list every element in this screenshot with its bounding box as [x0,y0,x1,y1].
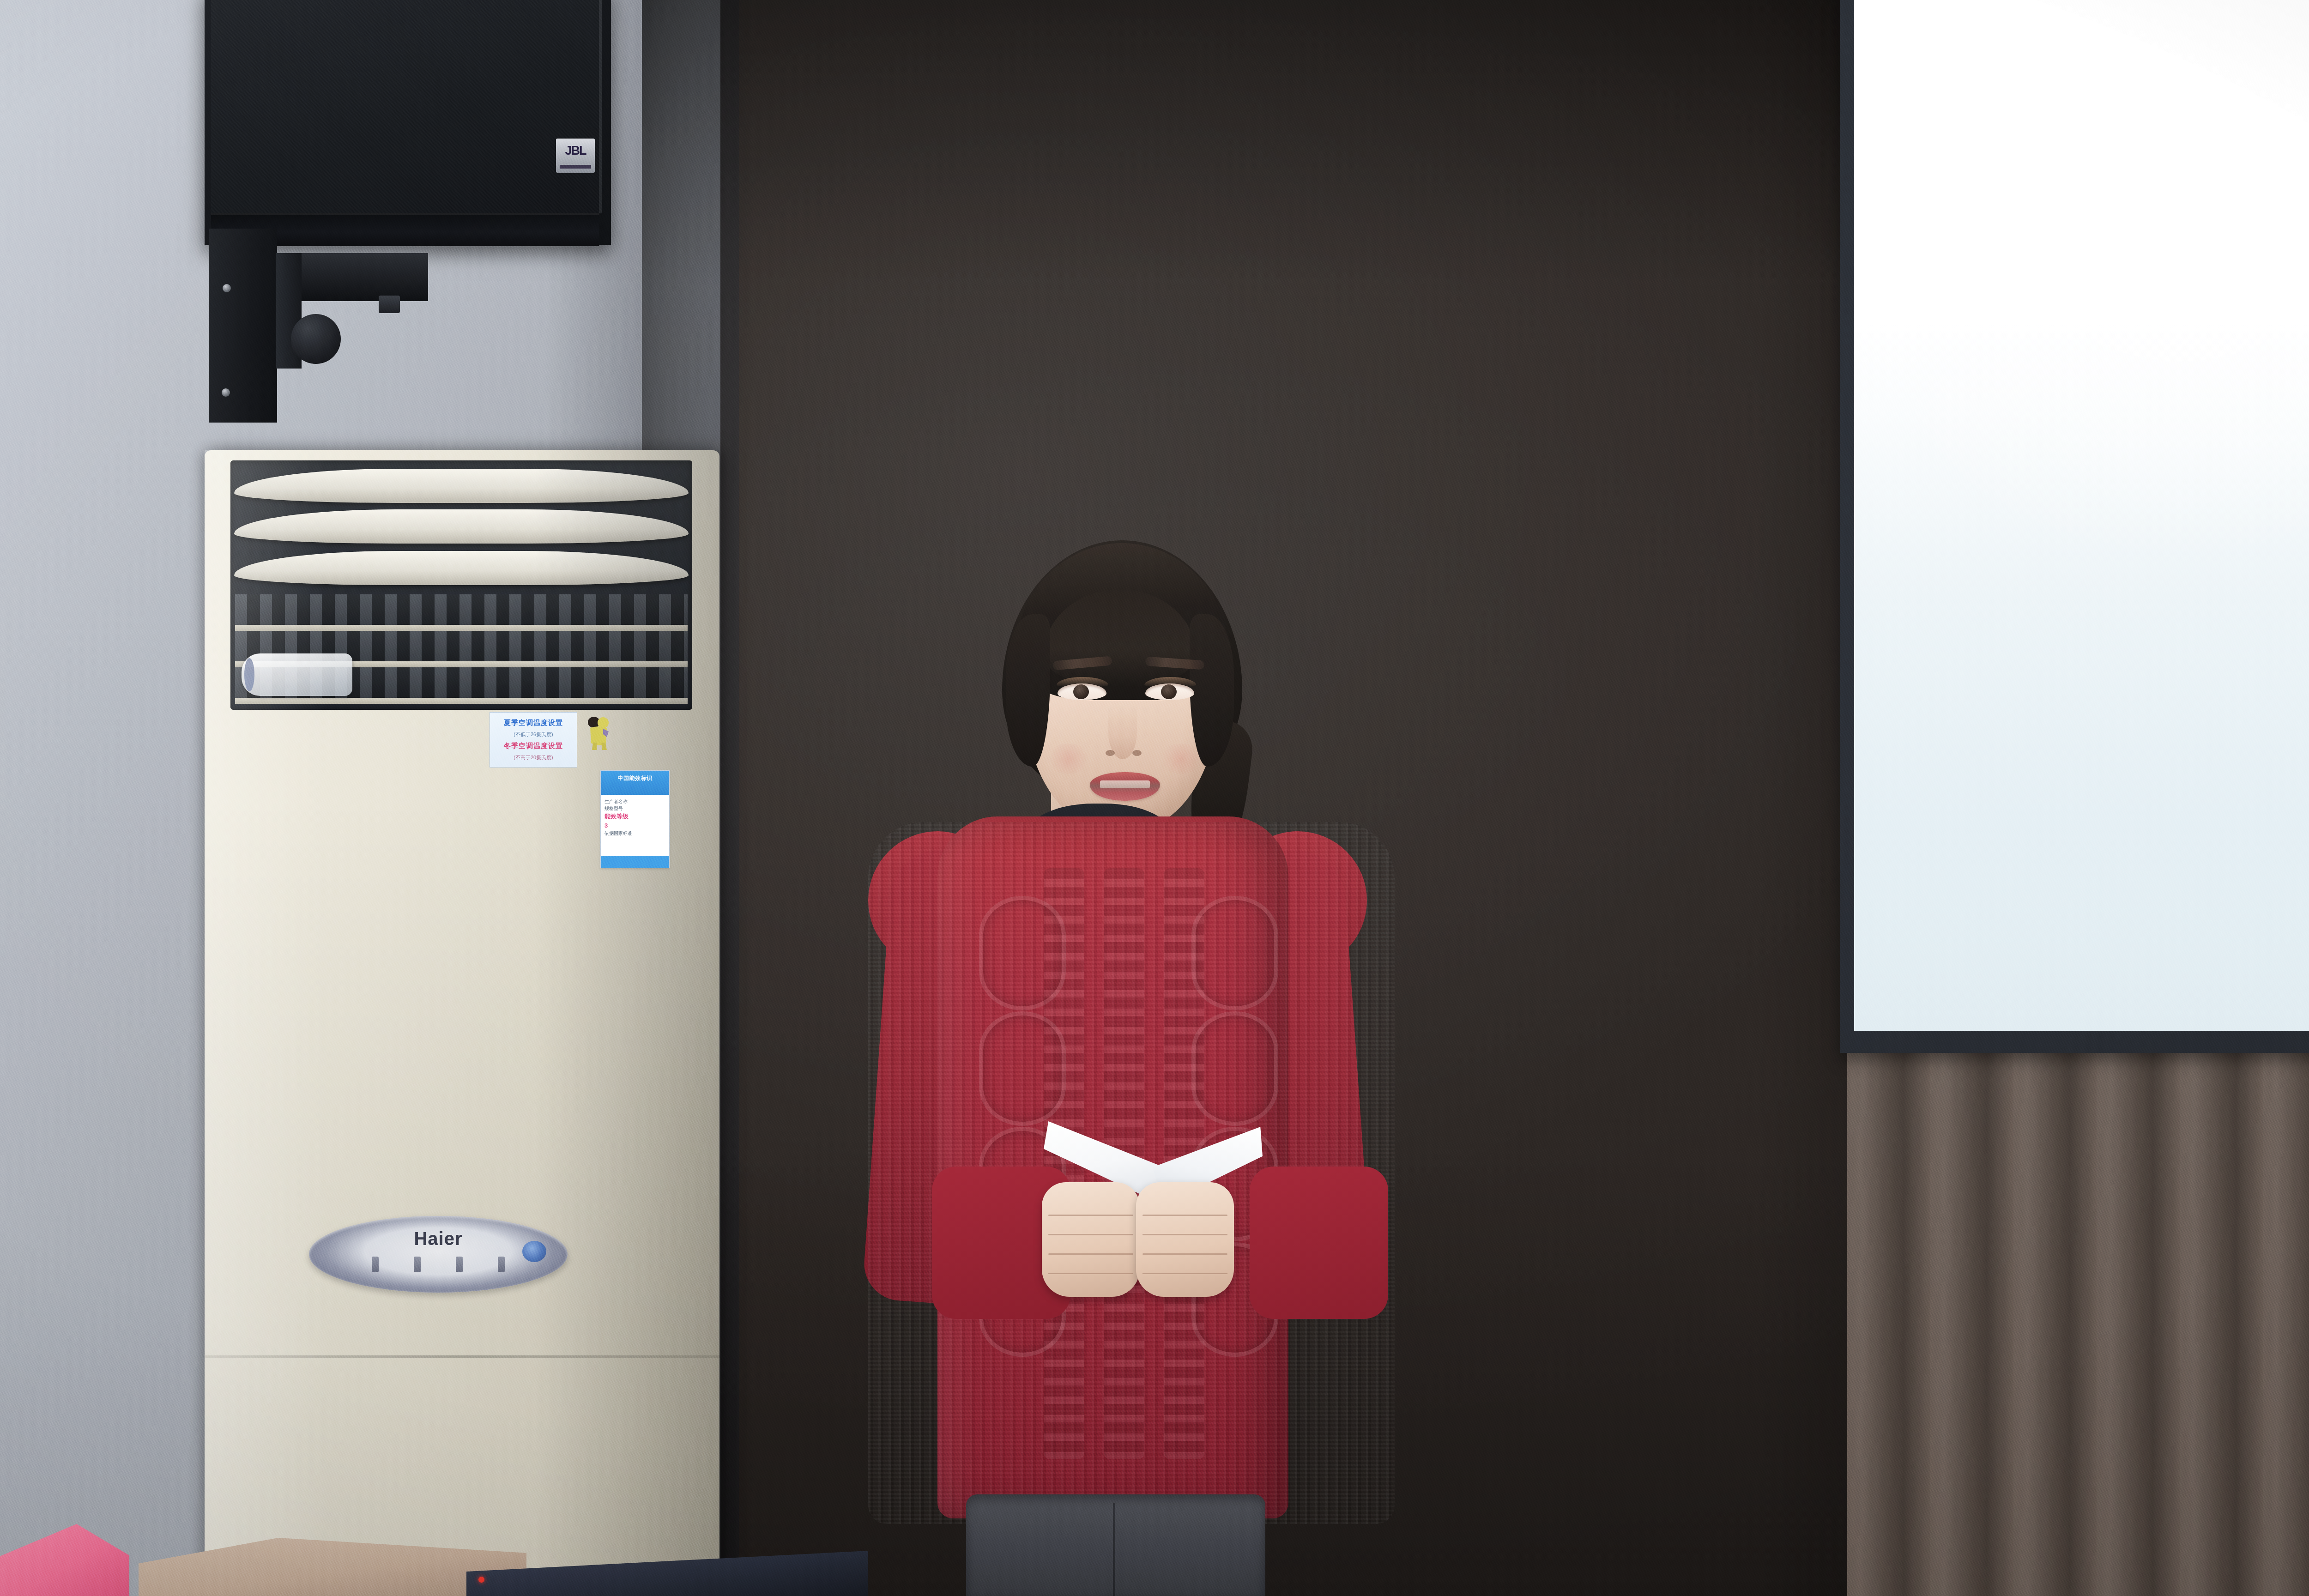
ac-button[interactable] [414,1257,421,1272]
ac-display-led-icon [522,1241,546,1262]
cheek-right [1159,744,1203,774]
sticker-line-1: 夏季空调温度设置 [493,719,574,727]
speaker-grille [211,0,602,213]
sticker-line-3: 冬季空调温度设置 [493,742,574,750]
ac-louver [234,469,689,503]
nostril-left [1106,750,1115,756]
jbl-logo-bar [560,165,591,169]
air-conditioner: Haier [205,450,719,1596]
ac-energy-label: 中国能效标识 生产者名称 规格型号 能效等级 3 依据国家标准 [600,770,670,868]
ac-louver [234,509,689,544]
power-led-icon [478,1577,484,1583]
ac-mesh-divider [235,625,688,631]
sweater-diamond [1191,1011,1278,1126]
mount-screw-icon [223,284,231,292]
sticker-line-2: (不低于26摄氏度) [493,731,574,738]
projection-screen-glow [1854,0,2309,1031]
sticker-line-4: (不高于20摄氏度) [493,754,574,761]
teeth [1100,780,1150,788]
photo-scene: JBL Haier [0,0,2309,1596]
haier-logo-label: Haier [414,1228,462,1249]
ac-panel-seam [205,1355,719,1358]
ac-button[interactable] [372,1257,379,1272]
wall-speaker: JBL [205,0,611,245]
ac-button-row[interactable] [372,1257,505,1272]
hand-left [1042,1182,1140,1297]
hair-side-left [1006,614,1050,767]
speaker-mount-ball-joint [291,314,341,364]
sleeve-cuff-right [1250,1167,1388,1319]
jbl-logo-label: JBL [565,145,586,157]
ac-button[interactable] [498,1257,505,1272]
ac-plastic-bag [242,653,352,696]
energy-label-footer: 依据国家标准 [604,830,665,837]
sweater-diamond [979,896,1066,1010]
ac-button[interactable] [456,1257,463,1272]
cheek-left [1046,744,1091,774]
sweater-diamond [1191,896,1278,1010]
projection-screen [1840,0,2309,1053]
ac-mesh-divider [235,698,688,704]
nostril-right [1132,750,1142,756]
energy-label-grade: 3 [604,821,665,830]
ac-top-vent [230,460,692,710]
energy-label-footer-bar [601,856,669,868]
energy-label-body: 生产者名称 规格型号 能效等级 3 依据国家标准 [601,795,669,840]
ac-control-panel[interactable]: Haier [309,1216,568,1293]
energy-label-header: 中国能效标识 [601,771,669,795]
jbl-logo-icon: JBL [556,139,595,173]
hair-side-right [1190,614,1234,767]
ac-temperature-sticker: 夏季空调温度设置 (不低于26摄氏度) 冬季空调温度设置 (不高于20摄氏度) [490,712,577,768]
presenter [785,545,1570,1596]
speaker-mount-tip [379,296,400,313]
ac-cartoon-decal-icon [583,715,613,750]
energy-label-line-3: 能效等级 [604,812,665,821]
energy-label-line-1: 生产者名称 [604,798,665,805]
sweater-diamond [979,1011,1066,1126]
ac-mesh-row [235,594,688,625]
speaker-mount-plate [209,229,277,423]
hand-right [1136,1182,1234,1297]
energy-label-line-2: 规格型号 [604,805,665,812]
trousers [966,1494,1265,1596]
mount-screw-icon [222,388,230,397]
ac-louver [234,551,689,585]
